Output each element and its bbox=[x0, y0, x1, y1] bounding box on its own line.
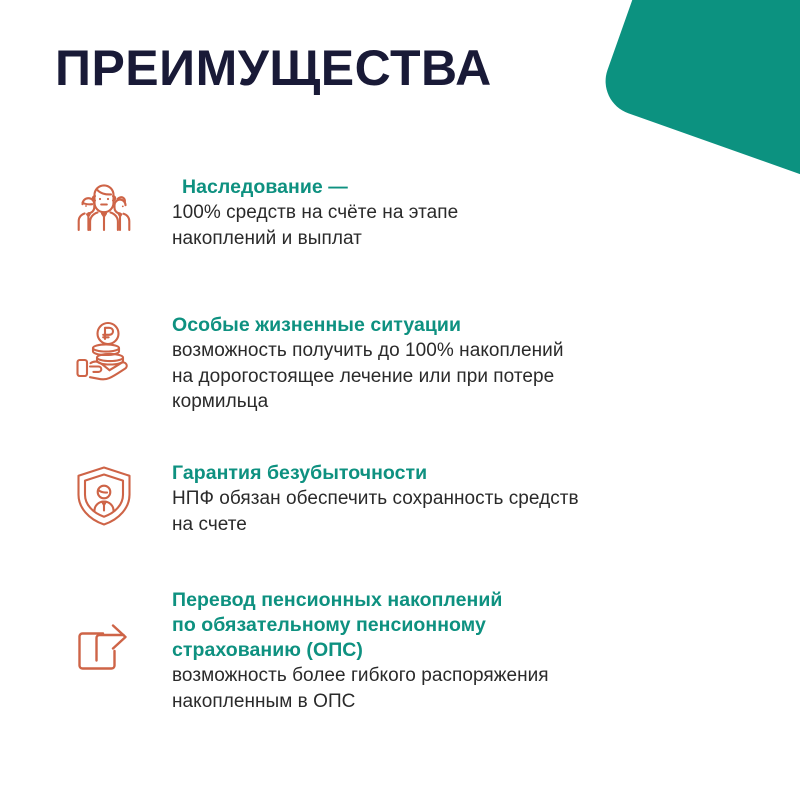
benefit-body: НПФ обязан обеспечить сохранность средст… bbox=[172, 486, 732, 537]
page-title: ПРЕИМУЩЕСТВА bbox=[55, 39, 492, 97]
benefit-text-block: Особые жизненные ситуации возможность по… bbox=[172, 313, 732, 415]
benefit-heading: Особые жизненные ситуации bbox=[172, 313, 732, 338]
benefit-heading: Гарантия безубыточности bbox=[172, 461, 732, 486]
benefit-body: 100% средств на счёте на этапе накоплени… bbox=[172, 200, 732, 251]
benefit-text-block: Перевод пенсионных накоплений по обязате… bbox=[172, 588, 732, 714]
benefit-heading: Наследование — bbox=[172, 175, 732, 200]
decorative-green-shape bbox=[596, 0, 800, 202]
slide-root: ПРЕИМУЩЕСТВА bbox=[0, 0, 800, 800]
benefit-text-block: Гарантия безубыточности НПФ обязан обесп… bbox=[172, 461, 732, 537]
benefit-body: возможность более гибкого распоряжения н… bbox=[172, 663, 732, 714]
benefit-text-block: Наследование — 100% средств на счёте на … bbox=[172, 175, 732, 251]
shield-person-icon bbox=[66, 458, 142, 534]
hand-with-coins-icon bbox=[66, 313, 142, 389]
family-icon bbox=[66, 168, 142, 244]
benefit-body: возможность получить до 100% накоплений … bbox=[172, 338, 732, 415]
transfer-arrow-icon bbox=[66, 612, 142, 688]
benefit-heading: Перевод пенсионных накоплений по обязате… bbox=[172, 588, 732, 663]
